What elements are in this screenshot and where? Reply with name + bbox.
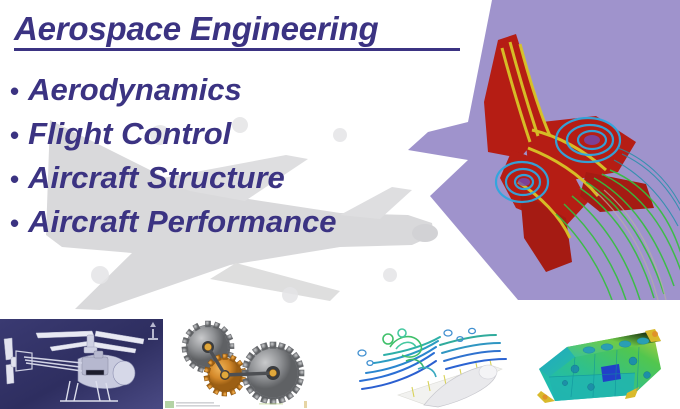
- topic-list: • Aerodynamics • Flight Control • Aircra…: [10, 74, 440, 249]
- title-underline-rule: [14, 48, 460, 51]
- list-item: • Aircraft Structure: [10, 162, 440, 195]
- bullet-dot-icon: •: [10, 210, 19, 236]
- list-item-label: Flight Control: [28, 118, 231, 151]
- list-item: • Flight Control: [10, 118, 440, 151]
- aircraft-streamlines-thumbnail[interactable]: [340, 317, 515, 409]
- thumbnail-strip: [0, 317, 680, 409]
- list-item: • Aerodynamics: [10, 74, 440, 107]
- list-item: • Aircraft Performance: [10, 206, 440, 239]
- slide-canvas: Aerospace Engineering • Aerodynamics • F…: [0, 0, 680, 409]
- list-item-label: Aerodynamics: [28, 74, 242, 107]
- bullet-dot-icon: •: [10, 78, 19, 104]
- cfd-fighter-jet-panel: [408, 0, 680, 300]
- cad-helicopter-thumbnail[interactable]: [0, 317, 163, 409]
- mechanical-gears-thumbnail[interactable]: [163, 317, 340, 409]
- bullet-dot-icon: •: [10, 166, 19, 192]
- engine-block-fea-thumbnail[interactable]: [515, 317, 680, 409]
- bullet-dot-icon: •: [10, 122, 19, 148]
- list-item-label: Aircraft Structure: [28, 162, 285, 195]
- list-item-label: Aircraft Performance: [28, 206, 336, 239]
